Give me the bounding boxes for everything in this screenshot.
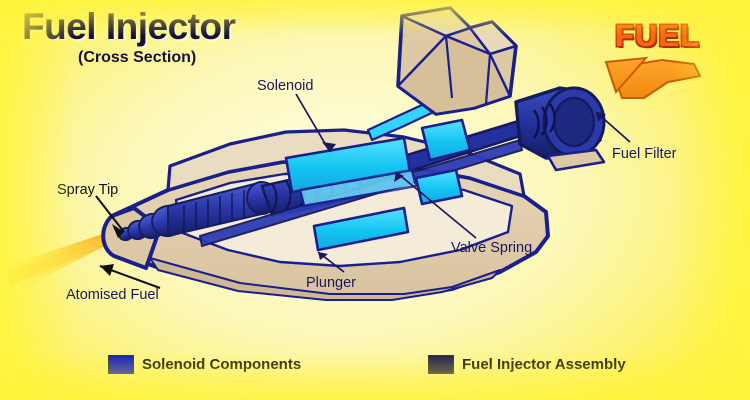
fuel-filter-end <box>516 88 604 170</box>
callout-label-plunger: Plunger <box>306 275 356 291</box>
legend-item-solenoid-components: Solenoid Components <box>108 355 301 374</box>
legend-swatch-solenoid <box>108 355 134 374</box>
electrical-connector-block <box>398 8 516 114</box>
arrow-down-left-icon <box>606 58 700 98</box>
fuel-injector-diagram: Fuel Injector (Cross Section) FUEL Solen… <box>0 0 750 400</box>
legend-label-solenoid: Solenoid Components <box>142 356 301 373</box>
callout-label-spray-tip: Spray Tip <box>57 182 118 198</box>
callout-label-valve-spring: Valve Spring <box>451 240 532 256</box>
fuel-inlet-label: FUEL <box>615 18 700 54</box>
legend: Solenoid Components Fuel Injector Assemb… <box>0 355 750 381</box>
page-subtitle: (Cross Section) <box>78 49 196 67</box>
callout-label-solenoid: Solenoid <box>257 78 313 94</box>
legend-swatch-assembly <box>428 355 454 374</box>
page-title: Fuel Injector <box>22 6 235 48</box>
legend-label-assembly: Fuel Injector Assembly <box>462 356 626 373</box>
callout-label-atomised-fuel: Atomised Fuel <box>66 287 159 303</box>
callout-label-fuel-filter: Fuel Filter <box>612 146 676 162</box>
legend-item-fuel-injector-assembly: Fuel Injector Assembly <box>428 355 626 374</box>
